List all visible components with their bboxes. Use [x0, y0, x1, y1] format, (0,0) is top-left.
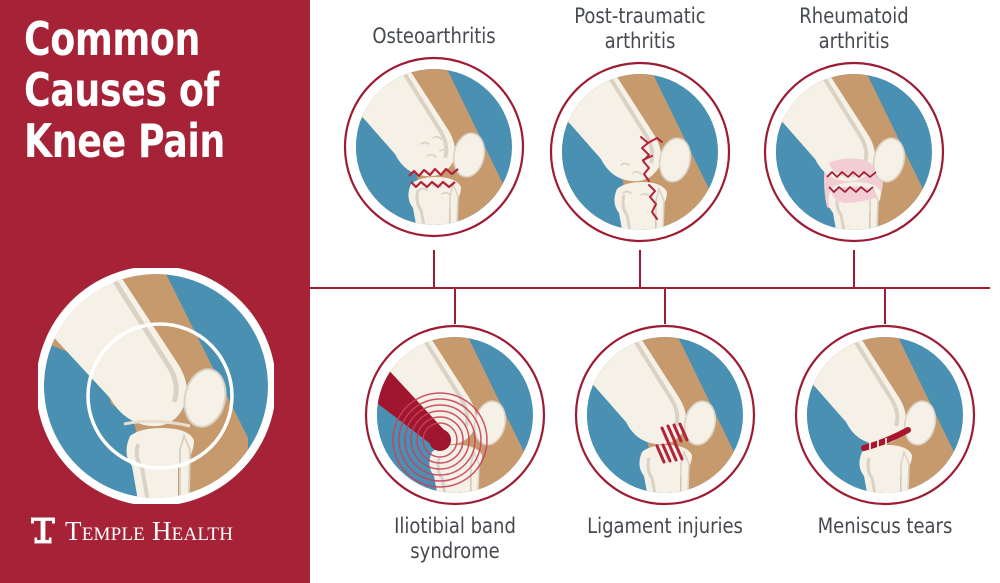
card-osteoarthritis[interactable]: Osteoarthritis [334, 24, 534, 238]
card-label-meniscus-tears: Meniscus tears [792, 514, 978, 539]
page-title: Common Causes of Knee Pain [24, 14, 262, 167]
knee-illustration-post-traumatic-arthritis [549, 61, 731, 243]
hero-knee-illustration [38, 268, 274, 504]
card-post-traumatic-arthritis[interactable]: Post-traumatic arthritis [540, 4, 740, 243]
card-label-osteoarthritis: Osteoarthritis [341, 24, 527, 49]
card-label-post-traumatic-arthritis: Post-traumatic arthritis [547, 4, 733, 54]
card-ligament-injuries[interactable]: Ligament injuries [565, 324, 765, 539]
card-rheumatoid-arthritis[interactable]: Rheumatoid arthritis [754, 4, 954, 243]
knee-illustration-iliotibial-band-syndrome [364, 324, 546, 506]
card-label-ligament-injuries: Ligament injuries [572, 514, 758, 539]
card-label-rheumatoid-arthritis: Rheumatoid arthritis [761, 4, 947, 54]
card-label-iliotibial-band-syndrome: Iliotibial band syndrome [362, 514, 548, 564]
logo-word-health: HEALTH [152, 516, 233, 546]
title-panel: Common Causes of Knee Pain [0, 0, 310, 583]
infographic-canvas: Common Causes of Knee Pain [0, 0, 1000, 583]
knee-illustration-rheumatoid-arthritis [763, 61, 945, 243]
logo-word-temple: TEMPLE [65, 516, 145, 546]
knee-illustration-osteoarthritis [343, 56, 525, 238]
card-meniscus-tears[interactable]: Meniscus tears [785, 324, 985, 539]
knee-illustration-ligament-injuries [574, 324, 756, 506]
knee-illustration-meniscus-tears [794, 324, 976, 506]
card-iliotibial-band-syndrome[interactable]: Iliotibial band syndrome [355, 324, 555, 564]
temple-health-logo: TEMPLE HEALTH [30, 516, 233, 546]
logo-wordmark: TEMPLE HEALTH [65, 518, 233, 545]
temple-t-monogram-icon [30, 516, 56, 546]
